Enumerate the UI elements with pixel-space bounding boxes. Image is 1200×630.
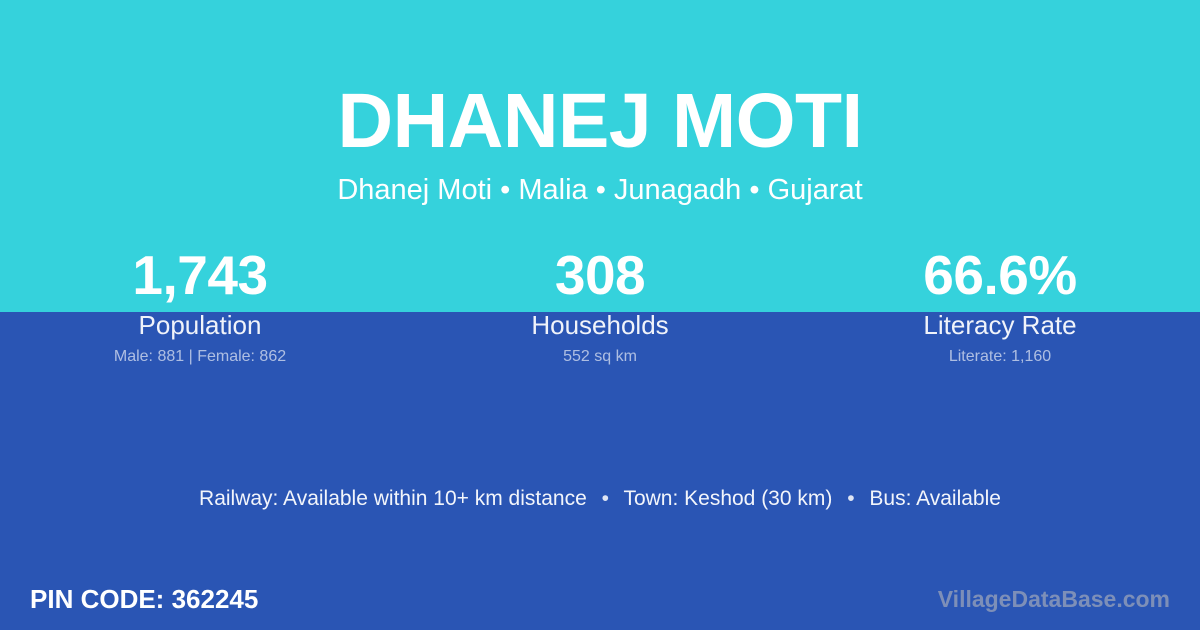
pin-code-label: PIN CODE: 362245 <box>30 584 258 614</box>
stat-sub-literacy-rate: Literate: 1,160 <box>800 347 1200 367</box>
card-footer: PIN CODE: 362245 VillageDataBase.com <box>0 568 1200 630</box>
stat-literacy-rate: 66.6% Literacy Rate Literate: 1,160 <box>800 244 1200 367</box>
amenity-bus: Bus: Available <box>869 487 1001 510</box>
statistics-row: 1,743 Population Male: 881 | Female: 862… <box>0 244 1200 367</box>
village-info-card: DHANEJ MOTI Dhanej Moti • Malia • Junaga… <box>0 0 1200 630</box>
amenities-row: Railway: Available within 10+ km distanc… <box>0 484 1200 514</box>
stat-households: 308 Households 552 sq km <box>400 244 800 367</box>
stat-label-population: Population <box>0 310 400 340</box>
stat-value-population: 1,743 <box>0 244 400 306</box>
stat-sub-population: Male: 881 | Female: 862 <box>0 347 400 367</box>
stat-sub-households: 552 sq km <box>400 347 800 367</box>
stat-value-literacy-rate: 66.6% <box>800 244 1200 306</box>
stat-label-households: Households <box>400 310 800 340</box>
card-header: DHANEJ MOTI Dhanej Moti • Malia • Junaga… <box>0 0 1200 207</box>
site-brand-watermark: VillageDataBase.com <box>938 586 1170 613</box>
amenity-separator-dot: • <box>838 484 863 514</box>
breadcrumb: Dhanej Moti • Malia • Junagadh • Gujarat <box>0 163 1200 207</box>
stat-population: 1,743 Population Male: 881 | Female: 862 <box>0 244 400 367</box>
amenity-town: Town: Keshod (30 km) <box>623 487 832 510</box>
stat-label-literacy-rate: Literacy Rate <box>800 310 1200 340</box>
amenity-railway: Railway: Available within 10+ km distanc… <box>199 487 587 510</box>
stat-value-households: 308 <box>400 244 800 306</box>
page-title: DHANEJ MOTI <box>0 0 1200 163</box>
amenity-separator-dot: • <box>593 484 618 514</box>
